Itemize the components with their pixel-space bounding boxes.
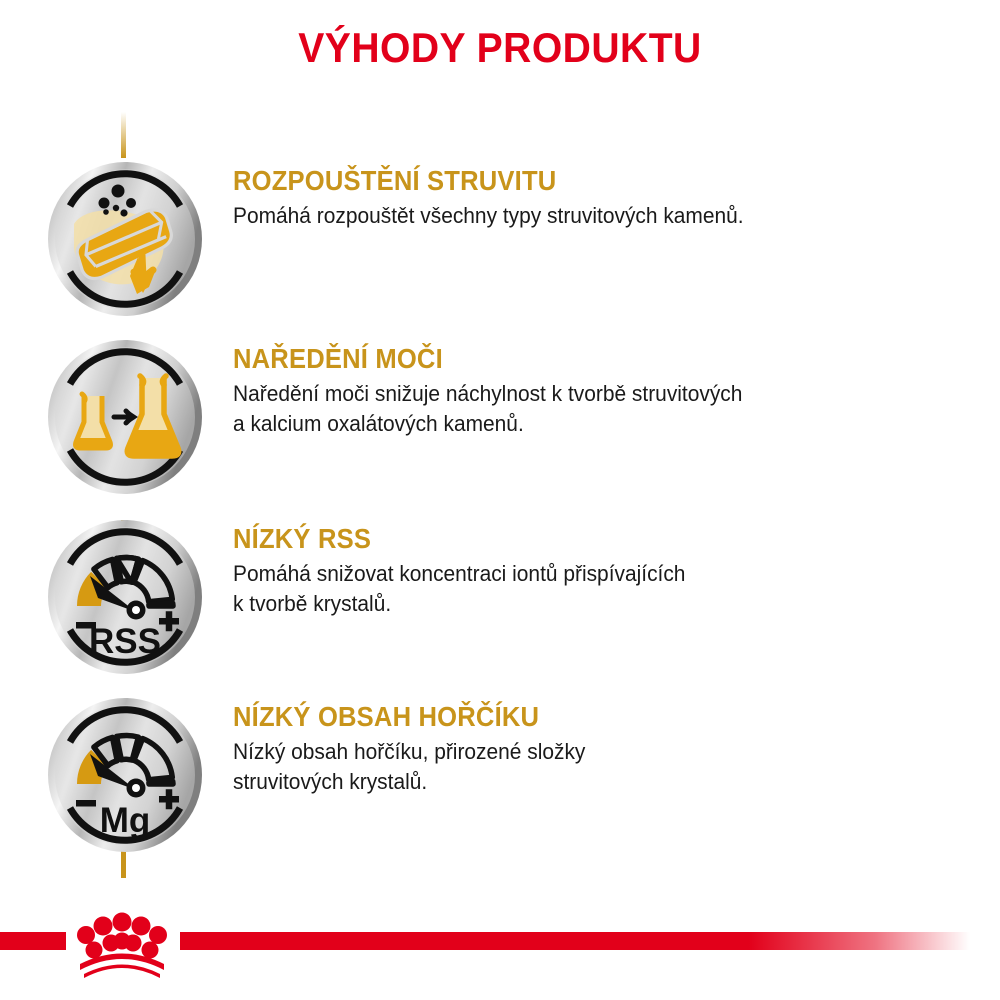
- urine-dilution-flasks-icon: [46, 338, 204, 496]
- low-rss-gauge-icon: RSS: [46, 518, 204, 676]
- benefit-body: Pomáhá rozpouštět všechny typy struvitov…: [233, 201, 935, 231]
- benefits-list: ROZPOUŠTĚNÍ STRUVITU Pomáhá rozpouštět v…: [0, 0, 1000, 900]
- footer-bar-right: [180, 932, 970, 950]
- benefit-heading: NAŘEDĚNÍ MOČI: [233, 344, 935, 375]
- benefit-body: Pomáhá snižovat koncentraci iontů přispí…: [233, 559, 935, 620]
- benefit-item-struvite-dissolution: ROZPOUŠTĚNÍ STRUVITU Pomáhá rozpouštět v…: [0, 160, 1000, 330]
- footer: [0, 890, 1000, 1000]
- gauge-label-text: Mg: [100, 801, 151, 840]
- benefit-heading: NÍZKÝ RSS: [233, 524, 935, 555]
- gauge-label-text: RSS: [89, 622, 161, 661]
- benefit-heading: NÍZKÝ OBSAH HOŘČÍKU: [233, 702, 935, 733]
- royal-canin-crown-logo: [66, 908, 178, 980]
- benefit-item-low-magnesium: Mg NÍZKÝ OBSAH HOŘČÍKU Nízký obsah hořčí…: [0, 696, 1000, 866]
- benefit-heading: ROZPOUŠTĚNÍ STRUVITU: [233, 166, 935, 197]
- dissolving-struvite-crystal-icon: [46, 160, 204, 318]
- benefit-item-low-rss: RSS NÍZKÝ RSS Pomáhá snižovat koncentrac…: [0, 518, 1000, 688]
- benefit-body: Naředění moči snižuje náchylnost k tvorb…: [233, 379, 935, 440]
- benefit-text-block: NAŘEDĚNÍ MOČI Naředění moči snižuje nách…: [233, 344, 988, 440]
- low-magnesium-gauge-icon: Mg: [46, 696, 204, 854]
- benefit-body: Nízký obsah hořčíku, přirozené složky st…: [233, 737, 935, 798]
- benefit-text-block: NÍZKÝ OBSAH HOŘČÍKU Nízký obsah hořčíku,…: [233, 702, 988, 798]
- footer-bar-left: [0, 932, 66, 950]
- benefit-item-urine-dilution: NAŘEDĚNÍ MOČI Naředění moči snižuje nách…: [0, 338, 1000, 508]
- benefit-text-block: NÍZKÝ RSS Pomáhá snižovat koncentraci io…: [233, 524, 988, 620]
- benefit-text-block: ROZPOUŠTĚNÍ STRUVITU Pomáhá rozpouštět v…: [233, 166, 988, 231]
